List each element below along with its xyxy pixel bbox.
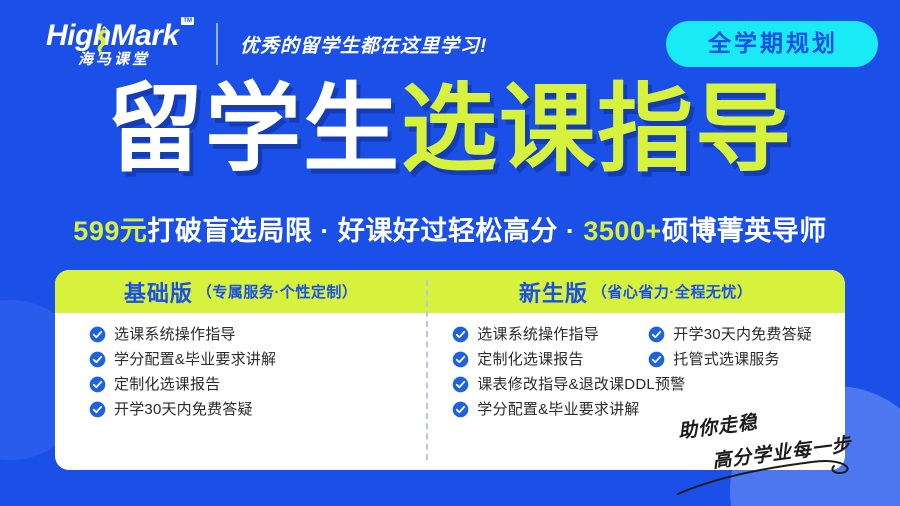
feature-label: 选课系统操作指导: [477, 327, 599, 342]
feature-entry: 定制化选课报告: [89, 376, 220, 393]
subtitle-line: 599元打破盲选局限 · 好课好过轻松高分 · 3500+硕博菁英导师: [0, 218, 900, 245]
list-item: 学分配置&毕业要求讲解: [55, 351, 426, 368]
feature-label: 托管式选课服务: [673, 352, 779, 367]
check-circle-icon: [89, 401, 106, 418]
logo-wordmark-text: HighMark TM: [46, 21, 192, 51]
list-item: 选课系统操作指导 开学30天内免费答疑: [426, 326, 845, 343]
subtitle-text-1: 打破盲选局限 · 好课好过轻松高分 ·: [147, 216, 583, 246]
list-item: 选课系统操作指导: [55, 326, 426, 343]
feature-label: 选课系统操作指导: [114, 327, 236, 342]
plan-card-basic-header: 基础版 （专属服务·个性定制）: [55, 270, 426, 313]
plan-card-freshman-feature-list: 选课系统操作指导 开学30天内免费答疑: [426, 326, 845, 418]
check-circle-icon: [452, 401, 469, 418]
check-circle-icon: [452, 376, 469, 393]
feature-entry: 学分配置&毕业要求讲解: [452, 401, 639, 418]
feature-entry: 选课系统操作指导: [89, 326, 236, 343]
plan-card-basic-title: 基础版: [124, 276, 193, 308]
banner-header: HighMark TM 海马课堂 优秀的留学生都在这里学习! 全学期规划: [0, 0, 900, 88]
check-circle-icon: [452, 326, 469, 343]
feature-entry: 课表修改指导&退改课DDL预警: [452, 376, 685, 393]
header-tagline: 优秀的留学生都在这里学习!: [240, 31, 487, 58]
check-circle-icon: [89, 376, 106, 393]
check-circle-icon: [648, 326, 665, 343]
promo-banner: HighMark TM 海马课堂 优秀的留学生都在这里学习! 全学期规划 留学生…: [0, 0, 900, 506]
plan-card-freshman: 新生版 （省心省力·全程无忧） 选课系统操作指导: [426, 270, 845, 470]
list-item: 课表修改指导&退改课DDL预警: [426, 376, 845, 393]
headline-part-lime: 选课指导: [401, 76, 793, 183]
plan-card-freshman-header: 新生版 （省心省力·全程无忧）: [426, 270, 845, 313]
list-item: 定制化选课报告 托管式选课服务: [426, 351, 845, 368]
plan-card-freshman-body: 选课系统操作指导 开学30天内免费答疑: [426, 313, 845, 470]
list-item: 定制化选课报告: [55, 376, 426, 393]
check-circle-icon: [452, 351, 469, 368]
feature-label: 定制化选课报告: [477, 352, 583, 367]
semester-plan-badge[interactable]: 全学期规划: [666, 21, 878, 67]
feature-entry: 定制化选课报告: [452, 351, 648, 368]
subtitle-text-2: 硕博菁英导师: [662, 216, 827, 246]
list-item: 学分配置&毕业要求讲解: [426, 401, 845, 418]
feature-label: 学分配置&毕业要求讲解: [114, 352, 276, 367]
subtitle-count: 3500+: [583, 216, 661, 246]
feature-entry: 开学30天内免费答疑: [89, 401, 253, 418]
plan-card-freshman-subtitle: （省心省力·全程无忧）: [592, 281, 753, 302]
header-divider: [216, 23, 218, 65]
feature-entry: 选课系统操作指导: [452, 326, 648, 343]
check-circle-icon: [89, 351, 106, 368]
plan-card-basic-body: 选课系统操作指导 学分配置&毕业要求讲解: [55, 313, 426, 470]
subtitle-price: 599元: [73, 216, 147, 246]
main-headline: 留学生选课指导: [0, 82, 900, 178]
feature-entry: 学分配置&毕业要求讲解: [89, 351, 276, 368]
plan-card-freshman-title: 新生版: [519, 276, 588, 308]
seahorse-icon: [93, 24, 111, 58]
brand-logo[interactable]: HighMark TM 海马课堂: [46, 16, 192, 72]
plan-card-basic-subtitle: （专属服务·个性定制）: [197, 281, 358, 302]
feature-entry: 托管式选课服务: [648, 351, 779, 368]
headline-part-white: 留学生: [107, 76, 401, 183]
check-circle-icon: [648, 351, 665, 368]
feature-label: 开学30天内免费答疑: [114, 402, 253, 417]
feature-label: 定制化选课报告: [114, 377, 220, 392]
logo-wordmark-label: HighMark: [46, 19, 179, 52]
list-item: 开学30天内免费答疑: [55, 401, 426, 418]
plan-card-basic: 基础版 （专属服务·个性定制） 选课系统操作指导: [55, 270, 426, 470]
feature-entry: 开学30天内免费答疑: [648, 326, 812, 343]
plan-card-basic-feature-list: 选课系统操作指导 学分配置&毕业要求讲解: [55, 326, 426, 418]
feature-label: 开学30天内免费答疑: [673, 327, 812, 342]
panel-dashed-divider: [426, 280, 428, 460]
trademark-label: TM: [181, 17, 194, 25]
feature-label: 学分配置&毕业要求讲解: [477, 402, 639, 417]
plans-panel: 基础版 （专属服务·个性定制） 选课系统操作指导: [55, 270, 845, 470]
check-circle-icon: [89, 326, 106, 343]
feature-label: 课表修改指导&退改课DDL预警: [477, 377, 685, 392]
